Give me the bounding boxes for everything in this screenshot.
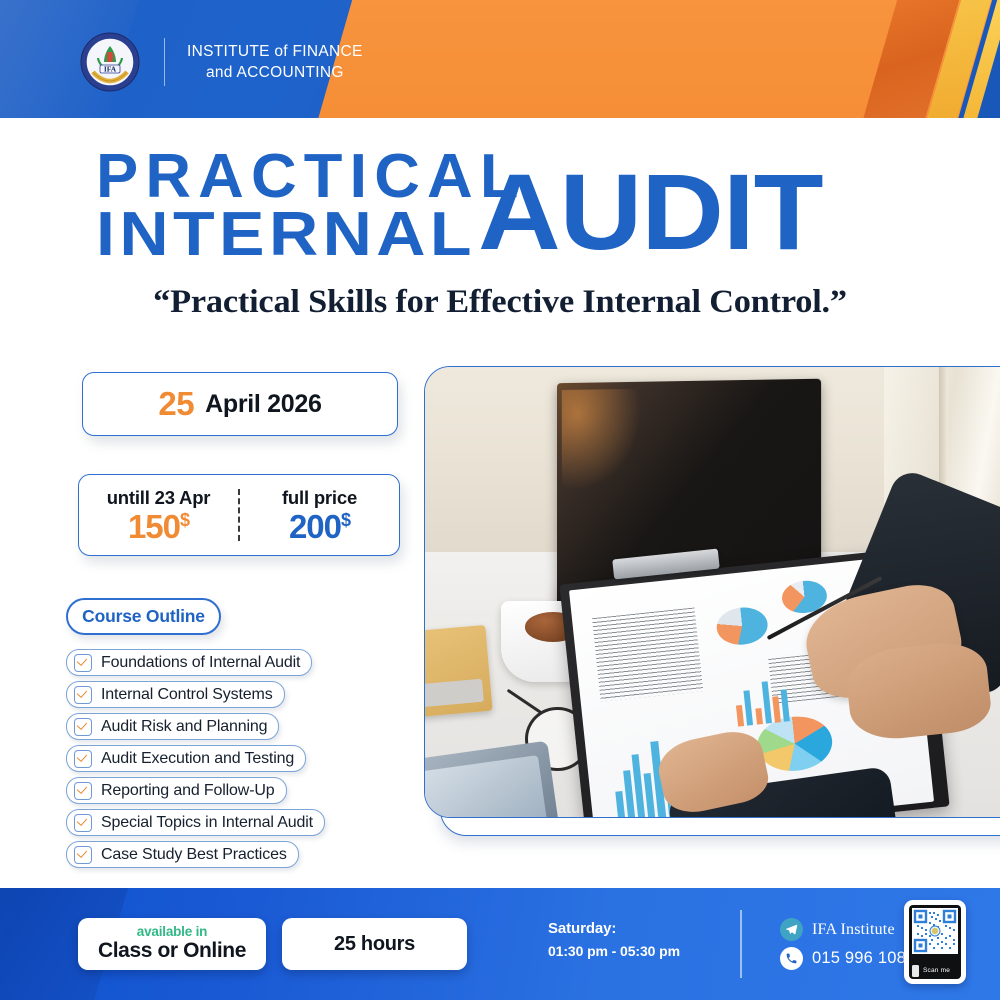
phone-device-icon [912,965,919,977]
price-early-currency: $ [180,510,189,530]
course-outline-heading: Course Outline [66,598,221,635]
outline-item: Case Study Best Practices [66,841,299,868]
outline-item-label: Internal Control Systems [101,686,273,704]
outline-item-label: Foundations of Internal Audit [101,654,300,672]
course-photo [424,366,1000,818]
delivery-mode-label: available in [137,925,207,940]
telegram-handle: IFA Institute [812,921,895,939]
outline-item: Reporting and Follow-Up [66,777,287,804]
photo-data-table [592,607,703,701]
price-early-number: 150 [128,508,180,545]
course-photo-scene [425,367,1000,817]
outline-item-label: Audit Risk and Planning [101,718,267,736]
photo-screen-glare [562,388,650,500]
check-icon [74,686,92,704]
outline-item-label: Reporting and Follow-Up [101,782,275,800]
event-date-month-year: April 2026 [205,390,322,419]
schedule-block: Saturday: 01:30 pm - 05:30 pm [548,920,680,959]
qr-code-inner: Scan me [909,905,961,979]
price-early-label: untill 23 Apr [107,487,211,509]
phone-icon [780,947,803,970]
qr-code-image [912,908,958,954]
footer-vertical-divider [740,910,742,978]
check-icon [74,782,92,800]
title-line-practical: PRACTICAL [96,146,526,208]
header-bar: IFA INSTITUTE of FINANCE and ACCOUNTING [0,0,1000,118]
organization-name: INSTITUTE of FINANCE and ACCOUNTING [187,41,363,84]
check-icon [74,846,92,864]
check-icon [74,814,92,832]
svg-text:IFA: IFA [104,65,117,74]
contact-phone-row[interactable]: 015 996 108 [780,947,906,970]
outline-item: Internal Control Systems [66,681,285,708]
ifa-seal-logo-icon: IFA [80,32,140,92]
duration-card: 25 hours [282,918,467,970]
price-full-currency: $ [341,510,350,530]
price-full-number: 200 [289,508,341,545]
pricing-card: untill 23 Apr 150$ full price 200$ [78,474,400,556]
poster-canvas: IFA INSTITUTE of FINANCE and ACCOUNTING … [0,0,1000,1000]
price-full: full price 200$ [240,475,399,555]
contact-block: IFA Institute 015 996 108 [780,918,906,976]
schedule-day: Saturday: [548,920,680,937]
qr-code-card[interactable]: Scan me [904,900,966,984]
price-full-label: full price [282,487,357,509]
event-date-card: 25 April 2026 [82,372,398,436]
price-full-amount: 200$ [289,510,350,543]
title-block: PRACTICAL INTERNAL AUDIT “Practical Skil… [0,150,1000,280]
duration-value: 25 hours [334,933,415,956]
phone-number: 015 996 108 [812,949,906,968]
outline-item: Audit Execution and Testing [66,745,306,772]
header-divider [164,38,165,86]
outline-item-label: Special Topics in Internal Audit [101,814,313,832]
title-line-internal: INTERNAL [96,204,476,266]
course-outline-list: Foundations of Internal Audit Internal C… [66,649,406,873]
schedule-time: 01:30 pm - 05:30 pm [548,943,680,959]
price-early-amount: 150$ [128,510,189,543]
photo-pie-chart [715,604,770,646]
check-icon [74,654,92,672]
title-subtitle: “Practical Skills for Effective Internal… [0,284,1000,321]
check-icon [74,750,92,768]
delivery-mode-card: available in Class or Online [78,918,266,970]
qr-scan-label: Scan me [923,967,950,974]
title-word-audit: AUDIT [478,158,822,266]
outline-item: Special Topics in Internal Audit [66,809,325,836]
check-icon [74,718,92,736]
outline-item: Audit Risk and Planning [66,713,279,740]
contact-telegram-row[interactable]: IFA Institute [780,918,906,941]
qr-scan-hint: Scan me [909,962,961,979]
outline-item-label: Case Study Best Practices [101,846,287,864]
event-date-day: 25 [158,385,194,423]
delivery-mode-value: Class or Online [98,939,246,963]
brand-lockup: IFA INSTITUTE of FINANCE and ACCOUNTING [80,32,363,92]
telegram-icon [780,918,803,941]
price-early-bird: untill 23 Apr 150$ [79,475,238,555]
outline-item-label: Audit Execution and Testing [101,750,294,768]
outline-item: Foundations of Internal Audit [66,649,312,676]
